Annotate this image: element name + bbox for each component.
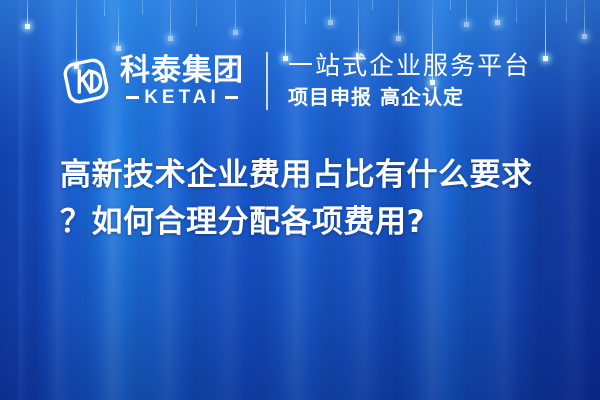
ketai-diamond-kd-monogram-icon — [58, 53, 114, 109]
brand-name-en: KETAI — [144, 88, 220, 107]
headline-line-1: 高新技术企业费用占比有什么要求 — [60, 152, 570, 199]
wordmark-dash-left-icon — [126, 96, 139, 99]
tagline-main: 一站式企业服务平台 — [288, 52, 531, 81]
promo-banner: 科泰集团 KETAI 一站式企业服务平台 项目申报 高企认定 高新技术企业费用占… — [0, 0, 600, 400]
brand-name-en-row: KETAI — [120, 88, 244, 107]
headline-line-2: ？如何合理分配各项费用? — [60, 199, 570, 246]
tagline-sub: 项目申报 高企认定 — [288, 84, 531, 110]
brand-header: 科泰集团 KETAI 一站式企业服务平台 项目申报 高企认定 — [58, 44, 531, 118]
brand-name-cn: 科泰集团 — [120, 55, 244, 87]
tagline-block: 一站式企业服务平台 项目申报 高企认定 — [288, 52, 531, 110]
vertical-divider — [266, 52, 268, 110]
brand-wordmark: 科泰集团 KETAI — [120, 55, 244, 107]
wordmark-dash-right-icon — [225, 96, 238, 99]
headline: 高新技术企业费用占比有什么要求 ？如何合理分配各项费用? — [60, 152, 570, 246]
